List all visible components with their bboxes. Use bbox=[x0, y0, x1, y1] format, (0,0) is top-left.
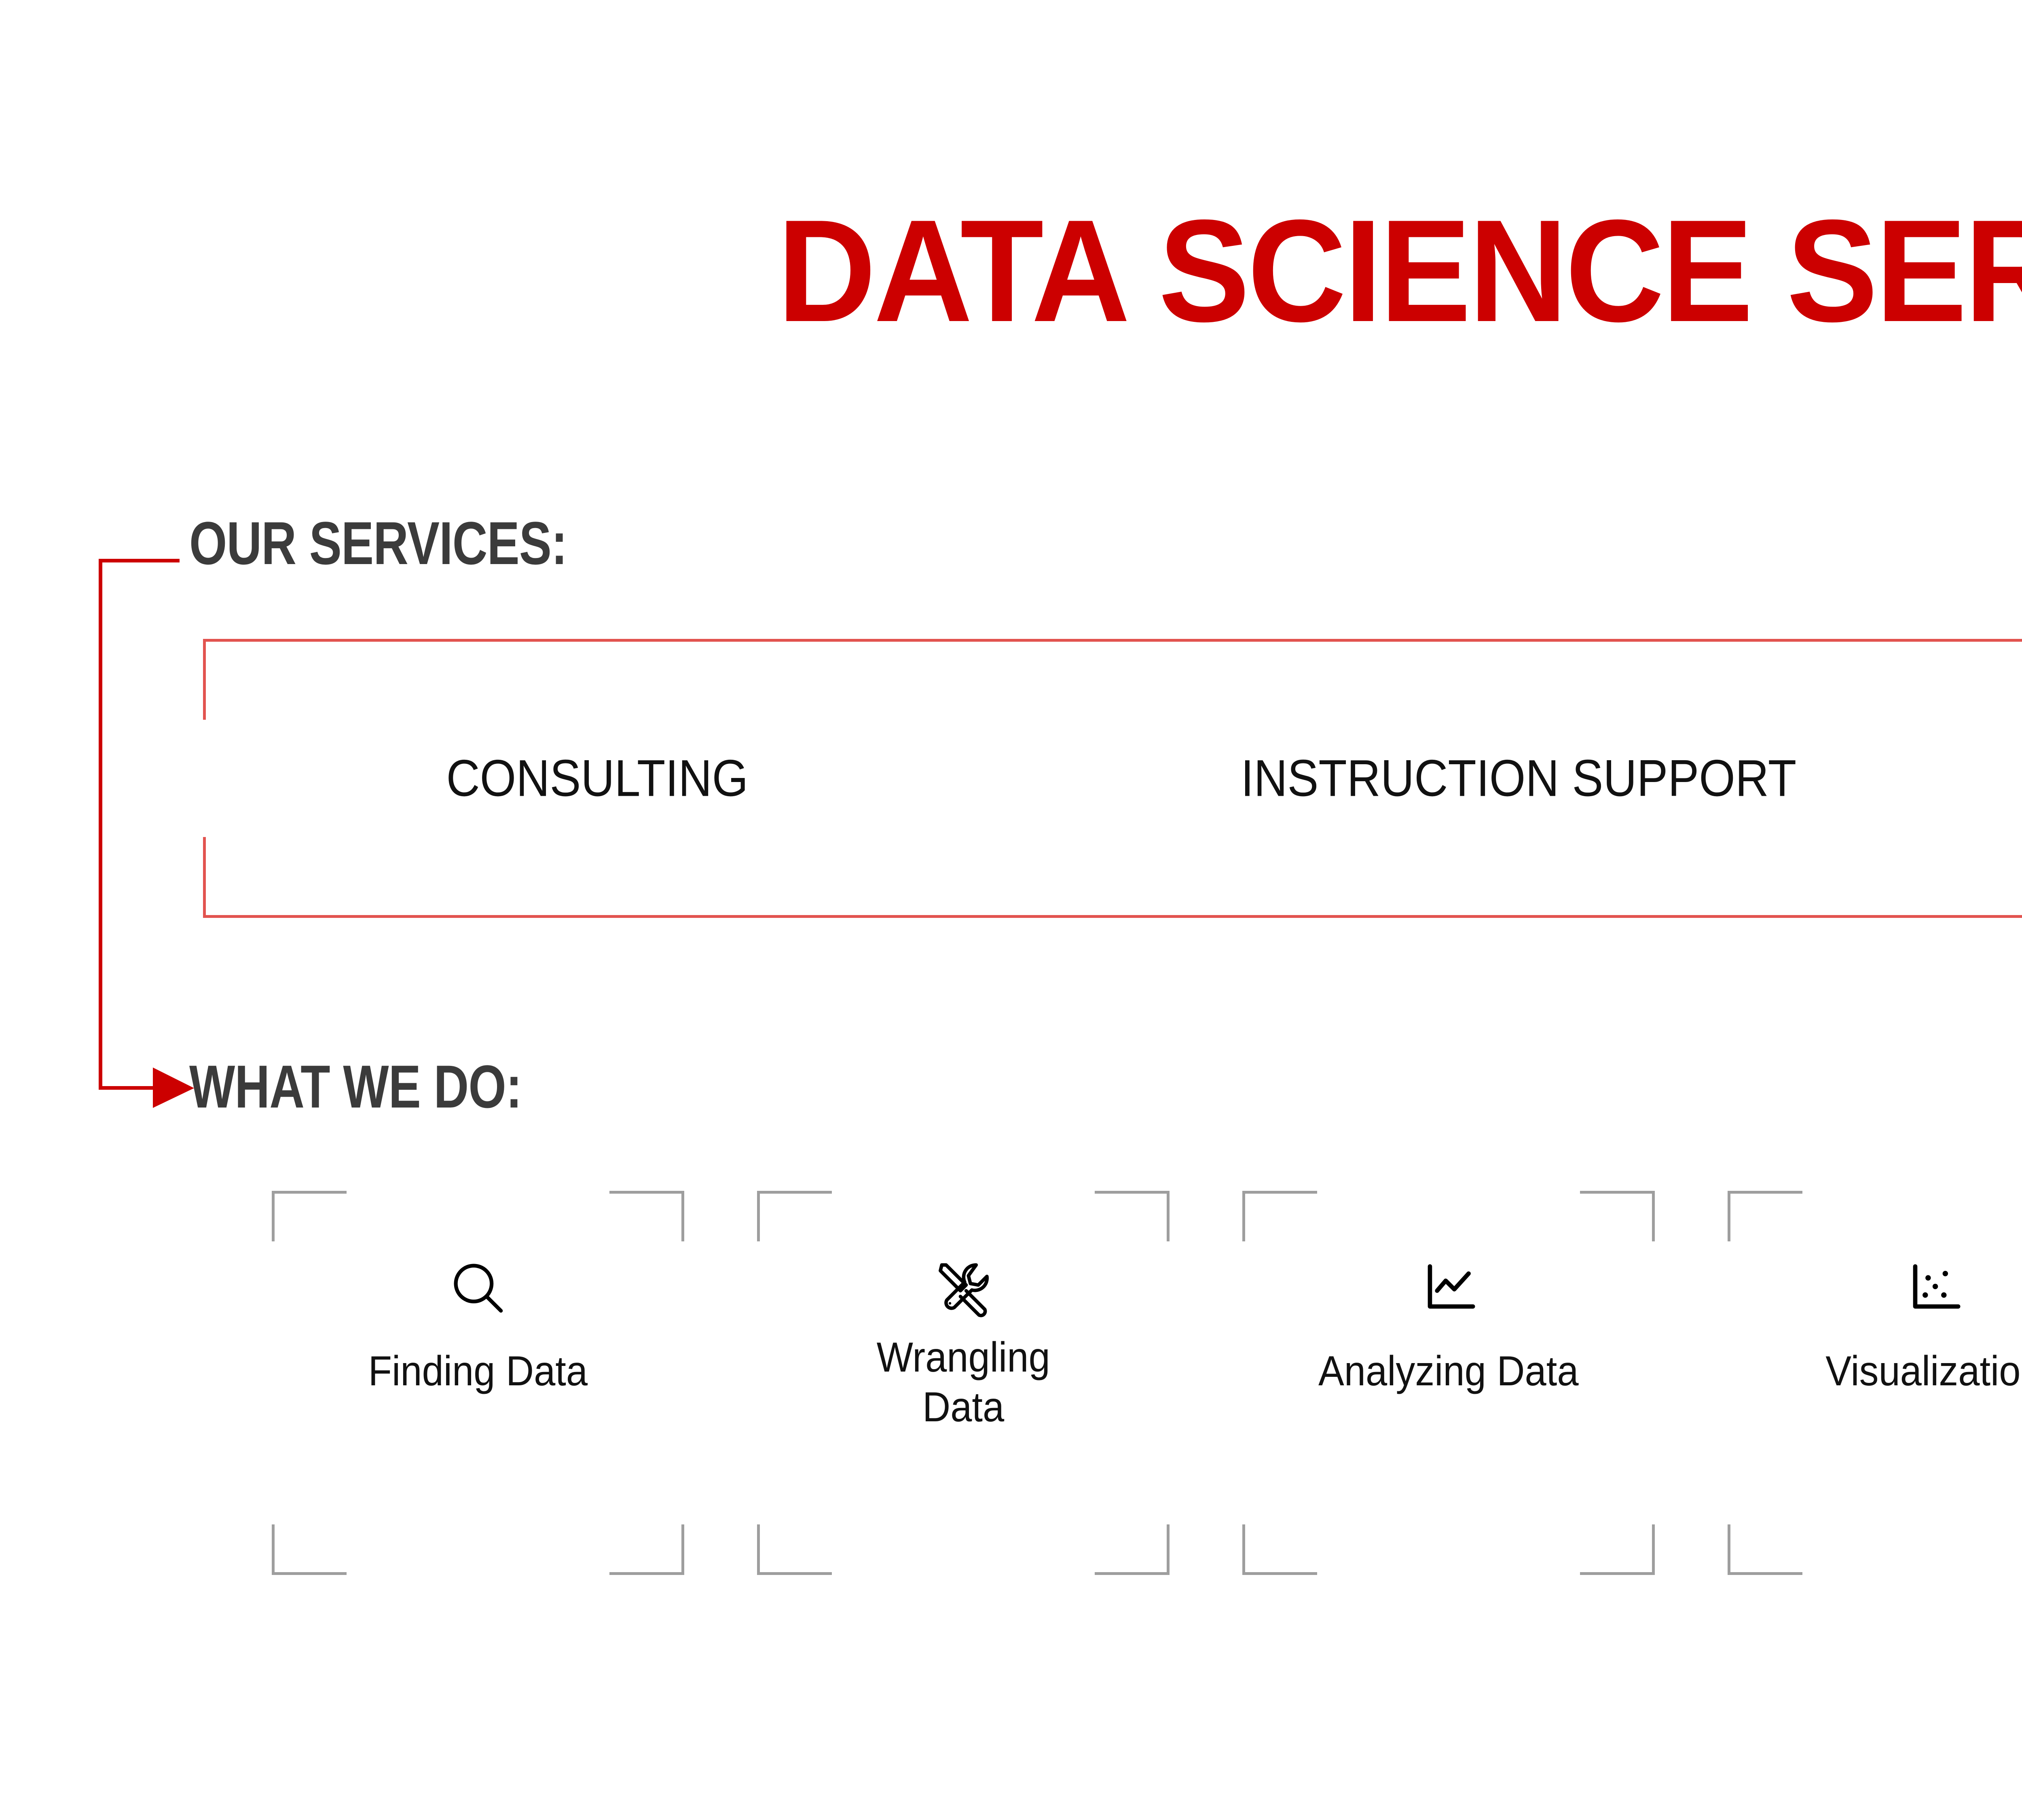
slide-canvas: DATA SCIENCE SERVICES OUR SERVICES: CONS… bbox=[0, 0, 2022, 1820]
page-title: DATA SCIENCE SERVICES bbox=[97, 198, 2022, 344]
card-label: Visualization bbox=[1825, 1347, 2022, 1396]
line-chart-icon bbox=[1414, 1253, 1483, 1322]
what-we-do-heading: WHAT WE DO: bbox=[189, 1056, 522, 1117]
service-item-consulting[interactable]: CONSULTING bbox=[446, 749, 748, 808]
scatter-plot-icon bbox=[1899, 1253, 1968, 1322]
services-list: CONSULTING INSTRUCTION SUPPORT SPECIALIZ… bbox=[203, 639, 2022, 918]
card-wrangling-data[interactable]: Wrangling Data bbox=[757, 1191, 1170, 1575]
what-we-do-card-grid: Finding Data Wra bbox=[0, 1191, 2022, 1579]
card-label: Finding Data bbox=[368, 1347, 588, 1396]
magnifying-glass-icon bbox=[444, 1253, 512, 1322]
services-box: CONSULTING INSTRUCTION SUPPORT SPECIALIZ… bbox=[203, 639, 2022, 918]
card-analyzing-data[interactable]: Analyzing Data bbox=[1242, 1191, 1655, 1575]
service-item-instruction-support[interactable]: INSTRUCTION SUPPORT bbox=[1241, 749, 1796, 808]
our-services-heading: OUR SERVICES: bbox=[189, 513, 567, 573]
card-label: Analyzing Data bbox=[1318, 1347, 1579, 1396]
card-finding-data[interactable]: Finding Data bbox=[272, 1191, 684, 1575]
card-visualization[interactable]: Visualization bbox=[1728, 1191, 2022, 1575]
card-label: Wrangling Data bbox=[876, 1333, 1050, 1432]
tools-screwdriver-wrench-icon bbox=[929, 1253, 998, 1322]
